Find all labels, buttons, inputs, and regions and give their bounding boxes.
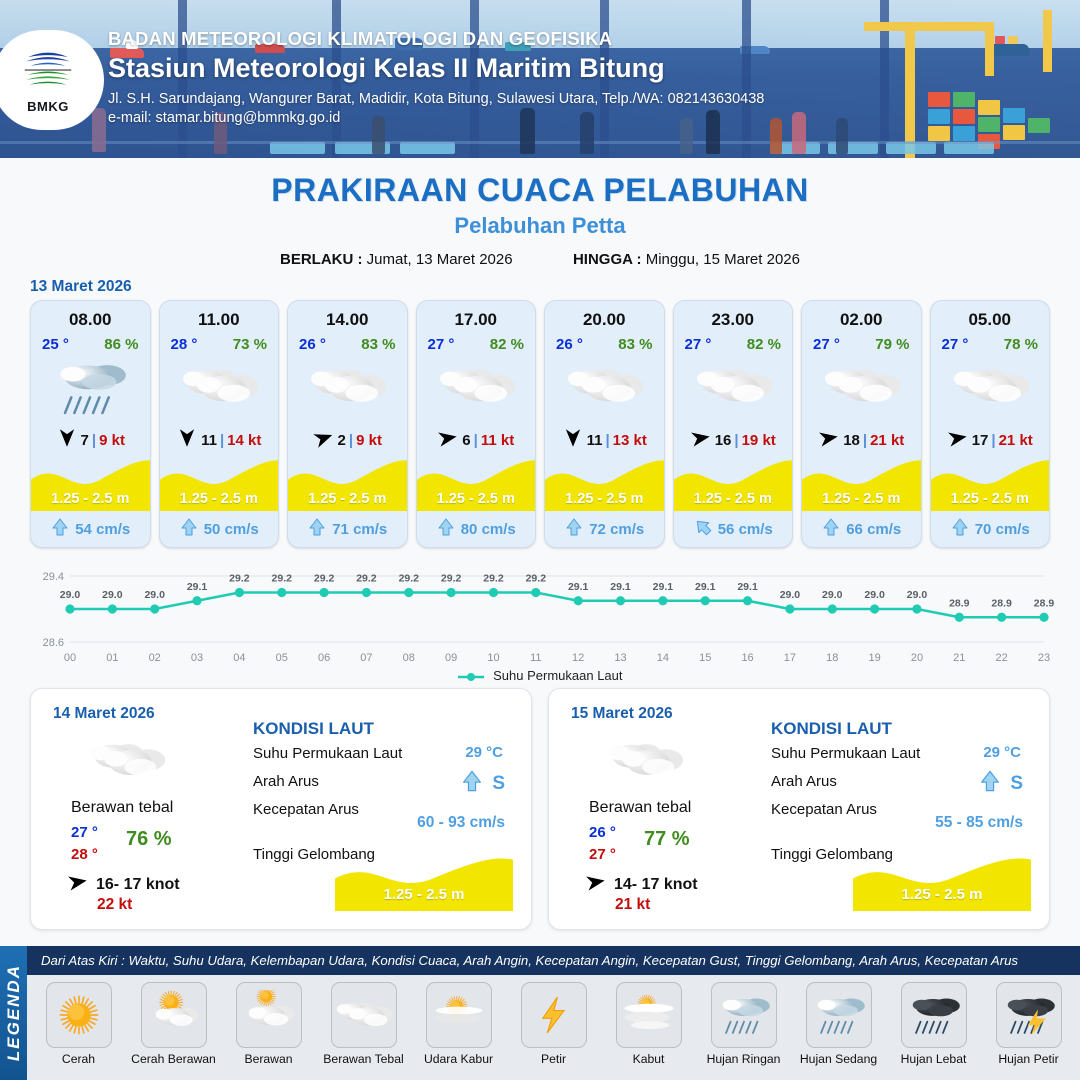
panel-gust: 21 kt	[615, 896, 650, 914]
legend-item-label: Cerah	[33, 1052, 124, 1066]
svg-text:10: 10	[487, 652, 499, 664]
svg-text:06: 06	[318, 652, 330, 664]
label-current-speed: Kecepatan Arus	[253, 801, 359, 818]
chart-legend: Suhu Permukaan Laut	[0, 668, 1080, 683]
card-temperature: 26 °	[299, 336, 326, 353]
card-current-speed: 54 cm/s	[75, 521, 130, 538]
svg-text:28.9: 28.9	[1034, 597, 1055, 609]
card-temperature: 27 °	[685, 336, 712, 353]
svg-text:00: 00	[64, 652, 76, 664]
card-gust: 14 kt	[227, 432, 261, 449]
wind-direction-icon	[313, 427, 335, 453]
forecast-card[interactable]: 11.00 28 ° 73 %	[159, 300, 280, 548]
wind-direction-icon	[690, 427, 712, 453]
svg-text:29.0: 29.0	[60, 589, 81, 601]
legend-item: Hujan Sedang	[793, 982, 884, 1066]
card-gust: 9 kt	[356, 432, 382, 449]
valid-from-value: Jumat, 13 Maret 2026	[367, 251, 513, 268]
wind-separator: |	[220, 432, 224, 449]
thunderstorm-icon	[996, 982, 1062, 1048]
value-current-speed: 60 - 93 cm/s	[417, 814, 505, 832]
card-current-speed: 50 cm/s	[204, 521, 259, 538]
bmkg-logo: BMKG	[0, 30, 104, 130]
svg-text:29.0: 29.0	[780, 589, 801, 601]
wind-separator: |	[474, 432, 478, 449]
svg-text:29.4: 29.4	[43, 571, 64, 583]
forecast-card[interactable]: 23.00 27 ° 82 %	[673, 300, 794, 548]
svg-text:15: 15	[699, 652, 711, 664]
wind-direction-icon	[818, 427, 840, 453]
value-sst: 29 °C	[983, 744, 1021, 761]
legend-item-label: Kabut	[603, 1052, 694, 1066]
sea-conditions-title: KONDISI LAUT	[253, 719, 374, 739]
panel-temp-max: 27 °	[589, 846, 616, 863]
svg-text:29.1: 29.1	[187, 581, 208, 593]
panel-temp-max: 28 °	[71, 846, 98, 863]
legend-item: Cerah Berawan	[128, 982, 219, 1066]
wind-direction-icon	[176, 427, 198, 453]
cloudy-icon	[160, 357, 279, 419]
light-rain-icon	[31, 357, 150, 419]
station-name: Stasiun Meteorologi Kelas II Maritim Bit…	[108, 53, 764, 84]
cloudy-icon	[417, 357, 536, 419]
card-temperature: 27 °	[942, 336, 969, 353]
card-gust: 21 kt	[870, 432, 904, 449]
panel-humidity: 77 %	[644, 828, 690, 851]
svg-text:29.0: 29.0	[822, 589, 843, 601]
legend-note: Dari Atas Kiri : Waktu, Suhu Udara, Kele…	[27, 946, 1080, 975]
svg-text:29.2: 29.2	[229, 573, 250, 585]
cloudy-icon	[545, 357, 664, 419]
card-gust: 9 kt	[99, 432, 125, 449]
card-time: 17.00	[417, 310, 536, 330]
svg-text:28.9: 28.9	[949, 597, 970, 609]
card-temperature: 26 °	[556, 336, 583, 353]
wind-separator: |	[349, 432, 353, 449]
card-gust: 19 kt	[742, 432, 776, 449]
card-wave-height: 1.25 - 2.5 m	[288, 491, 407, 507]
svg-text:29.0: 29.0	[144, 589, 165, 601]
chart-legend-label: Suhu Permukaan Laut	[493, 668, 622, 683]
legend-item-label: Petir	[508, 1052, 599, 1066]
legend-item: Hujan Lebat	[888, 982, 979, 1066]
valid-from-label: BERLAKU :	[280, 251, 363, 268]
card-humidity: 86 %	[104, 336, 138, 353]
panel-temp-min: 27 °	[71, 824, 98, 841]
panel-temp-min: 26 °	[589, 824, 616, 841]
value-current-direction: S	[492, 773, 505, 795]
svg-text:02: 02	[149, 652, 161, 664]
forecast-card-row: 08.00 25 ° 86 % 7 | 9 kt 1.25 - 2.5 m	[30, 300, 1050, 548]
cloudy-icon	[802, 357, 921, 419]
sea-conditions-title: KONDISI LAUT	[771, 719, 892, 739]
cloudy-sun-icon	[236, 982, 302, 1048]
value-current-speed: 55 - 85 cm/s	[935, 814, 1023, 832]
current-direction-icon	[821, 517, 841, 541]
card-time: 14.00	[288, 310, 407, 330]
card-wave-height: 1.25 - 2.5 m	[31, 491, 150, 507]
card-wind-speed: 16	[715, 432, 732, 449]
legend-tab-label: LEGENDA	[4, 964, 24, 1061]
header-text-block: BADAN METEOROLOGI KLIMATOLOGI DAN GEOFIS…	[108, 28, 764, 126]
svg-text:03: 03	[191, 652, 203, 664]
wind-direction-icon	[437, 427, 459, 453]
current-direction-icon	[460, 769, 484, 799]
card-humidity: 82 %	[490, 336, 524, 353]
current-direction-icon	[564, 517, 584, 541]
svg-text:29.2: 29.2	[314, 573, 335, 585]
svg-text:01: 01	[106, 652, 118, 664]
fog-icon	[616, 982, 682, 1048]
forecast-card[interactable]: 17.00 27 ° 82 %	[416, 300, 537, 548]
card-current-speed: 71 cm/s	[332, 521, 387, 538]
forecast-card[interactable]: 20.00 26 ° 83 %	[544, 300, 665, 548]
panel-date: 14 Maret 2026	[53, 705, 155, 723]
svg-text:19: 19	[868, 652, 880, 664]
panel-condition: Berawan tebal	[589, 799, 691, 817]
wind-direction-icon	[56, 427, 78, 453]
card-wave-height: 1.25 - 2.5 m	[545, 491, 664, 507]
bmkg-logo-icon	[20, 46, 76, 98]
card-wind-speed: 17	[972, 432, 989, 449]
label-current-direction: Arah Arus	[771, 773, 837, 790]
page-header: BMKG BADAN METEOROLOGI KLIMATOLOGI DAN G…	[0, 0, 1080, 158]
svg-text:28.9: 28.9	[991, 597, 1012, 609]
card-humidity: 82 %	[747, 336, 781, 353]
current-direction-icon	[50, 517, 70, 541]
panel-condition: Berawan tebal	[71, 799, 173, 817]
card-wind-speed: 7	[81, 432, 89, 449]
station-address: Jl. S.H. Sarundajang, Wangurer Barat, Ma…	[108, 91, 764, 107]
svg-text:29.2: 29.2	[526, 573, 547, 585]
card-gust: 13 kt	[613, 432, 647, 449]
card-temperature: 27 °	[428, 336, 455, 353]
legend-item: Berawan	[223, 982, 314, 1066]
agency-name: BADAN METEOROLOGI KLIMATOLOGI DAN GEOFIS…	[108, 28, 764, 50]
legend-item: Hujan Petir	[983, 982, 1074, 1066]
card-current-speed: 66 cm/s	[846, 521, 901, 538]
svg-text:29.1: 29.1	[653, 581, 674, 593]
page-subtitle: Pelabuhan Petta	[0, 213, 1080, 239]
wind-separator: |	[605, 432, 609, 449]
value-current-direction: S	[1010, 773, 1023, 795]
current-direction-icon	[436, 517, 456, 541]
legend-line-icon	[458, 672, 484, 682]
legend-item-label: Hujan Sedang	[793, 1052, 884, 1066]
card-time: 11.00	[160, 310, 279, 330]
svg-text:09: 09	[445, 652, 457, 664]
svg-text:16: 16	[741, 652, 753, 664]
wind-direction-icon	[585, 871, 607, 898]
svg-text:29.1: 29.1	[568, 581, 589, 593]
current-direction-icon	[179, 517, 199, 541]
cloudy-icon	[87, 733, 165, 796]
card-gust: 11 kt	[481, 432, 514, 449]
svg-text:21: 21	[953, 652, 965, 664]
card-wind-speed: 11	[587, 432, 603, 449]
svg-text:29.1: 29.1	[610, 581, 631, 593]
daily-summary-row: 14 Maret 2026 Berawan tebal 27 °	[30, 688, 1050, 930]
current-direction-icon	[693, 517, 713, 541]
card-temperature: 28 °	[171, 336, 198, 353]
card-temperature: 27 °	[813, 336, 840, 353]
sst-chart: 29.428.629.00029.00129.00229.10329.20429…	[18, 558, 1062, 686]
card-humidity: 79 %	[875, 336, 909, 353]
svg-text:29.2: 29.2	[272, 573, 293, 585]
legend-item: Berawan Tebal	[318, 982, 409, 1066]
svg-text:29.0: 29.0	[864, 589, 885, 601]
heavy-rain-icon	[901, 982, 967, 1048]
card-time: 23.00	[674, 310, 793, 330]
cloudy-icon	[674, 357, 793, 419]
forecast-card[interactable]: 14.00 26 ° 83 %	[287, 300, 408, 548]
wind-separator: |	[92, 432, 96, 449]
legend-item-label: Cerah Berawan	[128, 1052, 219, 1066]
svg-text:29.0: 29.0	[907, 589, 928, 601]
page-title: PRAKIRAAN CUACA PELABUHAN	[0, 172, 1080, 209]
wind-direction-icon	[67, 871, 89, 898]
current-direction-icon	[307, 517, 327, 541]
card-current-speed: 56 cm/s	[718, 521, 773, 538]
forecast-card[interactable]: 05.00 27 ° 78 %	[930, 300, 1051, 548]
daily-summary-panel[interactable]: 15 Maret 2026 Berawan tebal 26 °	[548, 688, 1050, 930]
card-wind-speed: 2	[338, 432, 346, 449]
forecast-date-label: 13 Maret 2026	[30, 278, 132, 296]
svg-text:13: 13	[614, 652, 626, 664]
daily-summary-panel[interactable]: 14 Maret 2026 Berawan tebal 27 °	[30, 688, 532, 930]
panel-date: 15 Maret 2026	[571, 705, 673, 723]
value-wave-height: 1.25 - 2.5 m	[335, 886, 513, 903]
card-wave-height: 1.25 - 2.5 m	[160, 491, 279, 507]
legend-item-label: Hujan Ringan	[698, 1052, 789, 1066]
card-time: 08.00	[31, 310, 150, 330]
svg-text:29.0: 29.0	[102, 589, 123, 601]
svg-text:20: 20	[911, 652, 923, 664]
svg-text:04: 04	[233, 652, 245, 664]
lightning-icon	[521, 982, 587, 1048]
label-sst: Suhu Permukaan Laut	[253, 745, 402, 762]
legend-item: Hujan Ringan	[698, 982, 789, 1066]
svg-text:14: 14	[657, 652, 669, 664]
haze-icon	[426, 982, 492, 1048]
validity-row: BERLAKU : Jumat, 13 Maret 2026 HINGGA : …	[0, 251, 1080, 268]
card-current-speed: 80 cm/s	[461, 521, 516, 538]
station-email: e-mail: stamar.bitung@bmmkg.go.id	[108, 110, 764, 126]
card-wind-speed: 6	[462, 432, 470, 449]
wind-direction-icon	[562, 427, 584, 453]
valid-until-label: HINGGA :	[573, 251, 642, 268]
card-humidity: 83 %	[361, 336, 395, 353]
card-time: 02.00	[802, 310, 921, 330]
title-section: PRAKIRAAN CUACA PELABUHAN Pelabuhan Pett…	[0, 158, 1080, 268]
svg-text:11: 11	[530, 652, 541, 664]
panel-gust: 22 kt	[97, 896, 132, 914]
svg-text:29.1: 29.1	[695, 581, 716, 593]
svg-text:08: 08	[403, 652, 415, 664]
svg-text:17: 17	[784, 652, 796, 664]
card-temperature: 25 °	[42, 336, 69, 353]
card-gust: 21 kt	[999, 432, 1033, 449]
label-sst: Suhu Permukaan Laut	[771, 745, 920, 762]
card-wave-height: 1.25 - 2.5 m	[674, 491, 793, 507]
legend-item-label: Berawan	[223, 1052, 314, 1066]
legend-item: Kabut	[603, 982, 694, 1066]
card-wave-height: 1.25 - 2.5 m	[931, 491, 1050, 507]
logo-label: BMKG	[27, 99, 69, 114]
legend-item: Udara Kabur	[413, 982, 504, 1066]
light-rain-icon	[711, 982, 777, 1048]
card-wind-speed: 11	[201, 432, 217, 449]
svg-text:29.2: 29.2	[399, 573, 420, 585]
legend-item-label: Udara Kabur	[413, 1052, 504, 1066]
legend-item-label: Hujan Lebat	[888, 1052, 979, 1066]
value-sst: 29 °C	[465, 744, 503, 761]
value-wave-height: 1.25 - 2.5 m	[853, 886, 1031, 903]
legend-tab: LEGENDA	[0, 946, 27, 1080]
legend-item: Petir	[508, 982, 599, 1066]
legend-item: Cerah	[33, 982, 124, 1066]
card-humidity: 83 %	[618, 336, 652, 353]
svg-text:29.1: 29.1	[737, 581, 758, 593]
label-current-direction: Arah Arus	[253, 773, 319, 790]
label-current-speed: Kecepatan Arus	[771, 801, 877, 818]
legend-item-label: Hujan Petir	[983, 1052, 1074, 1066]
card-time: 05.00	[931, 310, 1050, 330]
current-direction-icon	[950, 517, 970, 541]
svg-text:29.2: 29.2	[441, 573, 462, 585]
card-current-speed: 72 cm/s	[589, 521, 644, 538]
card-wind-speed: 18	[843, 432, 860, 449]
overcast-icon	[331, 982, 397, 1048]
legend-item-label: Berawan Tebal	[318, 1052, 409, 1066]
valid-until-value: Minggu, 15 Maret 2026	[646, 251, 800, 268]
panel-wind: 14- 17 knot	[614, 876, 698, 894]
forecast-card[interactable]: 08.00 25 ° 86 % 7 | 9 kt 1.25 - 2.5 m	[30, 300, 151, 548]
card-humidity: 73 %	[233, 336, 267, 353]
partly-cloudy-icon	[141, 982, 207, 1048]
svg-text:12: 12	[572, 652, 584, 664]
card-humidity: 78 %	[1004, 336, 1038, 353]
cloudy-icon	[931, 357, 1050, 419]
card-wave-height: 1.25 - 2.5 m	[802, 491, 921, 507]
card-time: 20.00	[545, 310, 664, 330]
wind-direction-icon	[947, 427, 969, 453]
sunny-icon	[46, 982, 112, 1048]
panel-humidity: 76 %	[126, 828, 172, 851]
panel-wind: 16- 17 knot	[96, 876, 180, 894]
svg-text:05: 05	[276, 652, 288, 664]
svg-text:07: 07	[360, 652, 372, 664]
cloudy-icon	[605, 733, 683, 796]
forecast-card[interactable]: 02.00 27 ° 79 %	[801, 300, 922, 548]
current-direction-icon	[978, 769, 1002, 799]
card-current-speed: 70 cm/s	[975, 521, 1030, 538]
weather-legend: LEGENDA Dari Atas Kiri : Waktu, Suhu Uda…	[0, 946, 1080, 1080]
wind-separator: |	[991, 432, 995, 449]
svg-text:29.2: 29.2	[356, 573, 377, 585]
card-wave-height: 1.25 - 2.5 m	[417, 491, 536, 507]
svg-text:29.2: 29.2	[483, 573, 504, 585]
wind-separator: |	[734, 432, 738, 449]
moderate-rain-icon	[806, 982, 872, 1048]
cloudy-icon	[288, 357, 407, 419]
svg-text:28.6: 28.6	[43, 637, 64, 649]
svg-text:23: 23	[1038, 652, 1050, 664]
legend-item-list: Cerah Cerah Berawan	[27, 975, 1080, 1066]
wind-separator: |	[863, 432, 867, 449]
svg-text:22: 22	[996, 652, 1008, 664]
svg-text:18: 18	[826, 652, 838, 664]
